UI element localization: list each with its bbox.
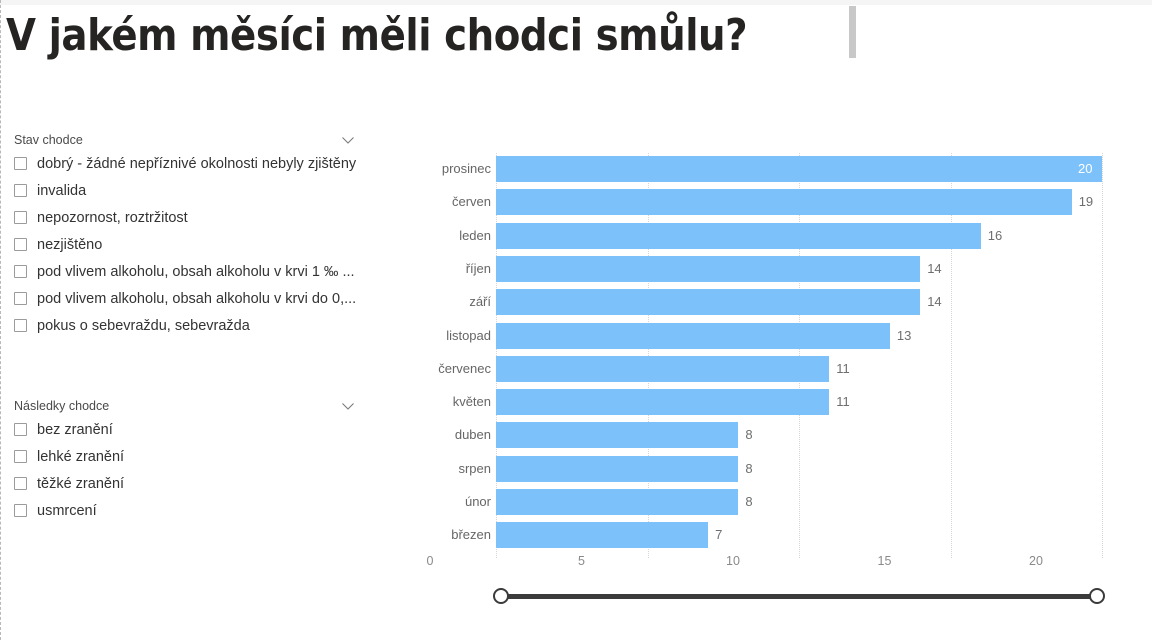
filter-group-header-nasledky-chodce[interactable]: Následky chodce [0, 396, 372, 416]
bar-value-label: 11 [836, 389, 850, 415]
filter-option[interactable]: pod vlivem alkoholu, obsah alkoholu v kr… [0, 258, 372, 285]
checkbox-icon[interactable] [14, 157, 27, 170]
checkbox-icon[interactable] [14, 211, 27, 224]
bar[interactable] [496, 323, 890, 349]
x-axis: 05101520 [430, 545, 1036, 569]
category-label: únor [465, 489, 491, 515]
chart-row: listopad13 [496, 320, 1102, 353]
bar[interactable] [496, 456, 738, 482]
filter-group-nasledky-chodce: Následky chodcebez zraněnílehké zraněnít… [0, 396, 372, 524]
filter-option[interactable]: bez zranění [0, 416, 372, 443]
filter-option[interactable]: lehké zranění [0, 443, 372, 470]
filter-option[interactable]: nezjištěno [0, 231, 372, 258]
page-title: V jakém měsíci měli chodci smůlu? [6, 8, 745, 66]
bar-value-label: 11 [836, 356, 850, 382]
bar-chart: prosinec20červen19leden16říjen14září14li… [430, 140, 1130, 610]
chart-row: únor8 [496, 486, 1102, 519]
filter-option-label: nepozornost, roztržitost [37, 209, 188, 227]
bar-value-label: 19 [1079, 189, 1093, 215]
filter-group-header-stav-chodce[interactable]: Stav chodce [0, 130, 372, 150]
filter-pane: Stav chodcedobrý - žádné nepříznivé okol… [0, 130, 380, 520]
chart-row: srpen8 [496, 453, 1102, 486]
slider-track[interactable] [501, 594, 1097, 599]
gridline [1102, 153, 1103, 558]
filter-group-title: Stav chodce [14, 133, 83, 147]
filter-option-label: nezjištěno [37, 236, 102, 254]
bar-value-label: 8 [745, 489, 752, 515]
category-label: červenec [438, 356, 491, 382]
bar[interactable] [496, 422, 738, 448]
category-label: říjen [466, 256, 491, 282]
chart-row: leden16 [496, 220, 1102, 253]
filter-option[interactable]: usmrcení [0, 497, 372, 524]
top-strip [0, 0, 1152, 5]
checkbox-icon[interactable] [14, 477, 27, 490]
chart-row: duben8 [496, 419, 1102, 452]
filter-group-title: Následky chodce [14, 399, 109, 413]
checkbox-icon[interactable] [14, 319, 27, 332]
bar-value-label: 8 [745, 456, 752, 482]
text-caret [849, 6, 856, 58]
category-label: květen [453, 389, 491, 415]
bar-value-label: 16 [988, 223, 1002, 249]
checkbox-icon[interactable] [14, 292, 27, 305]
x-axis-tick: 15 [878, 554, 892, 568]
filter-option-label: invalida [37, 182, 86, 200]
filter-option[interactable]: pod vlivem alkoholu, obsah alkoholu v kr… [0, 285, 372, 312]
x-axis-tick: 5 [578, 554, 585, 568]
filter-option-label: těžké zranění [37, 475, 124, 493]
bar[interactable] [496, 223, 981, 249]
filter-option[interactable]: těžké zranění [0, 470, 372, 497]
filter-option[interactable]: dobrý - žádné nepříznivé okolnosti nebyl… [0, 150, 372, 177]
checkbox-icon[interactable] [14, 450, 27, 463]
filter-option-label: dobrý - žádné nepříznivé okolnosti nebyl… [37, 155, 356, 173]
filter-option-label: lehké zranění [37, 448, 124, 466]
bar-value-label: 20 [1078, 156, 1092, 182]
chart-row: září14 [496, 286, 1102, 319]
chart-row: prosinec20 [496, 153, 1102, 186]
filter-option-label: pod vlivem alkoholu, obsah alkoholu v kr… [37, 290, 356, 308]
x-axis-tick: 0 [427, 554, 434, 568]
bar[interactable] [496, 389, 829, 415]
x-axis-tick: 20 [1029, 554, 1043, 568]
slider-handle-right[interactable] [1089, 588, 1105, 604]
chart-row: červen19 [496, 186, 1102, 219]
bar-value-label: 14 [927, 256, 941, 282]
category-label: srpen [458, 456, 491, 482]
checkbox-icon[interactable] [14, 265, 27, 278]
checkbox-icon[interactable] [14, 238, 27, 251]
range-slider[interactable] [496, 585, 1102, 609]
filter-group-stav-chodce: Stav chodcedobrý - žádné nepříznivé okol… [0, 130, 372, 339]
chevron-down-icon[interactable] [341, 134, 355, 146]
filter-option[interactable]: invalida [0, 177, 372, 204]
category-label: duben [455, 422, 491, 448]
bar[interactable] [496, 356, 829, 382]
filter-option[interactable]: pokus o sebevraždu, sebevražda [0, 312, 372, 339]
bar[interactable] [496, 156, 1102, 182]
category-label: listopad [446, 323, 491, 349]
chevron-down-icon[interactable] [341, 400, 355, 412]
filter-option-label: pod vlivem alkoholu, obsah alkoholu v kr… [37, 263, 355, 281]
chart-row: květen11 [496, 386, 1102, 419]
filter-option-label: pokus o sebevraždu, sebevražda [37, 317, 250, 335]
bar[interactable] [496, 489, 738, 515]
x-axis-tick: 10 [726, 554, 740, 568]
category-label: prosinec [442, 156, 491, 182]
filter-option[interactable]: nepozornost, roztržitost [0, 204, 372, 231]
filter-option-label: bez zranění [37, 421, 113, 439]
bar-value-label: 13 [897, 323, 911, 349]
bar[interactable] [496, 189, 1072, 215]
slider-handle-left[interactable] [493, 588, 509, 604]
bar-value-label: 14 [927, 289, 941, 315]
checkbox-icon[interactable] [14, 504, 27, 517]
category-label: září [469, 289, 491, 315]
category-label: červen [452, 189, 491, 215]
bar[interactable] [496, 256, 920, 282]
bar-value-label: 8 [745, 422, 752, 448]
bar[interactable] [496, 289, 920, 315]
chart-row: červenec11 [496, 353, 1102, 386]
plot-area: prosinec20červen19leden16říjen14září14li… [496, 153, 1102, 558]
filter-option-label: usmrcení [37, 502, 97, 520]
checkbox-icon[interactable] [14, 184, 27, 197]
checkbox-icon[interactable] [14, 423, 27, 436]
category-label: leden [459, 223, 491, 249]
chart-row: říjen14 [496, 253, 1102, 286]
